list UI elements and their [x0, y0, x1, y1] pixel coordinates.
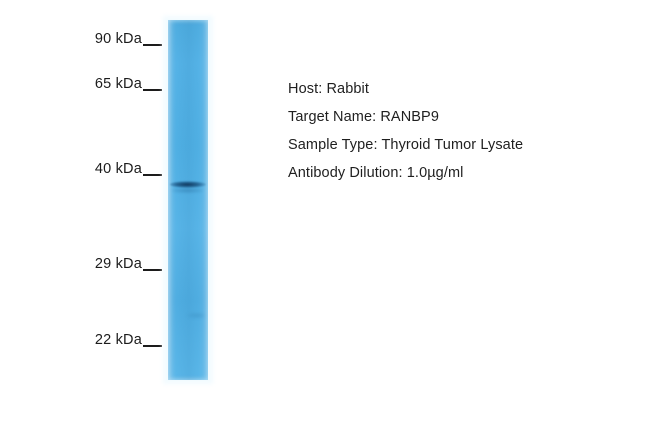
mw-marker-65: 65 kDa [74, 76, 162, 92]
blot-band-smear [172, 188, 203, 193]
mw-marker-22: 22 kDa [74, 332, 162, 348]
mw-marker-90: 90 kDa [74, 31, 162, 47]
gel-lane [168, 20, 208, 380]
annotation-antibody-dilution: Antibody Dilution: 1.0µg/ml [288, 159, 618, 187]
annotation-block: Host: Rabbit Target Name: RANBP9 Sample … [288, 75, 618, 187]
annotation-target-name: Target Name: RANBP9 [288, 103, 618, 131]
mw-marker-65-tick [143, 89, 162, 91]
annotation-host: Host: Rabbit [288, 75, 618, 103]
mw-marker-22-label: 22 kDa [95, 332, 142, 348]
mw-marker-40-tick [143, 174, 162, 176]
blot-band-40kda [170, 181, 206, 188]
mw-marker-40: 40 kDa [74, 161, 162, 177]
mw-marker-22-tick [143, 345, 162, 347]
western-blot-figure: 90 kDa 65 kDa 40 kDa 29 kDa 22 kDa Host:… [0, 0, 650, 434]
mw-marker-90-label: 90 kDa [95, 31, 142, 47]
gel-lane-container [163, 16, 213, 384]
mw-marker-40-label: 40 kDa [95, 161, 142, 177]
mw-marker-29-label: 29 kDa [95, 256, 142, 272]
mw-marker-29-tick [143, 269, 162, 271]
blot-band-faint-low [187, 313, 205, 318]
mw-marker-90-tick [143, 44, 162, 46]
mw-marker-65-label: 65 kDa [95, 76, 142, 92]
mw-marker-29: 29 kDa [74, 256, 162, 272]
annotation-sample-type: Sample Type: Thyroid Tumor Lysate [288, 131, 618, 159]
